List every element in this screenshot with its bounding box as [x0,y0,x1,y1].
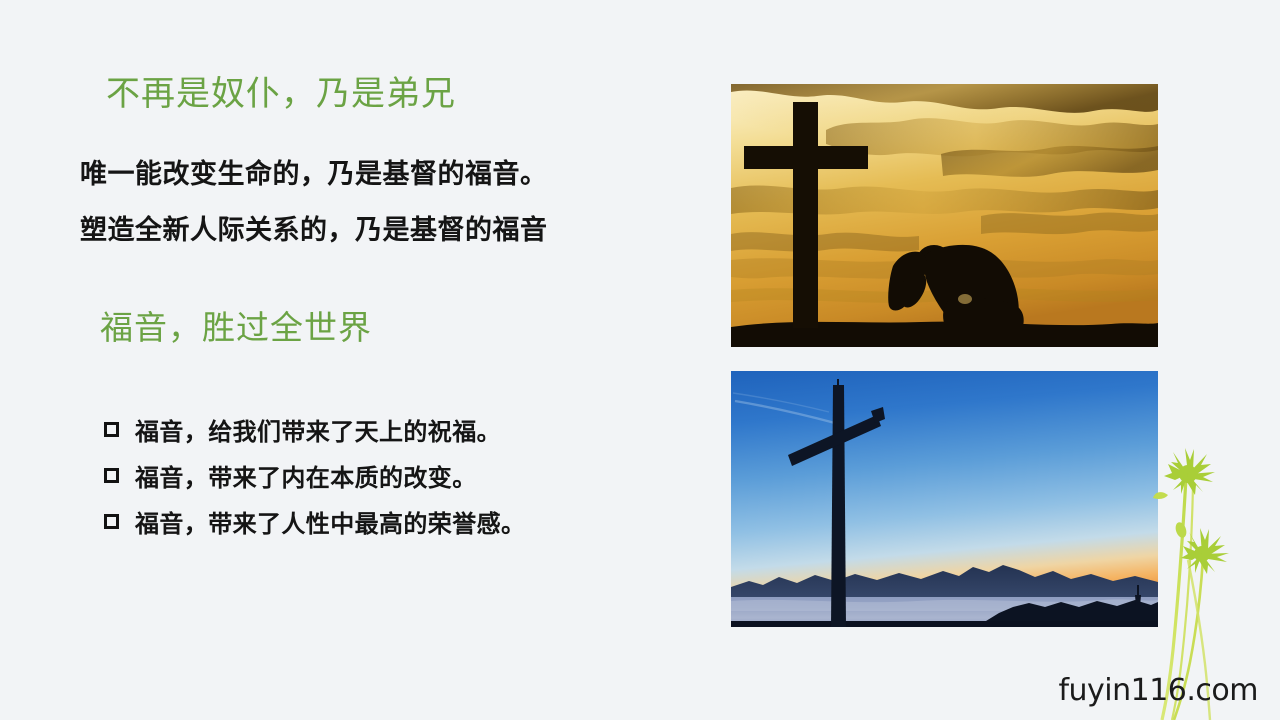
bullet-list: 福音，给我们带来了天上的祝福。 福音，带来了内在本质的改变。 福音，带来了人性中… [104,406,525,544]
body-line-2: 塑造全新人际关系的，乃是基督的福音 [80,214,548,248]
page-title: 不再是奴仆，乃是弟兄 [106,74,456,114]
image-summit-cross-dusk [731,371,1158,627]
flower-bud [1174,521,1188,539]
flower-head-lower [1181,528,1229,574]
list-item: 福音，给我们带来了天上的祝福。 [104,406,525,452]
section-heading: 福音，胜过全世界 [100,308,372,348]
cross-sunset-prayer-illustration [731,84,1158,347]
image-cross-sunset-prayer [731,84,1158,347]
watermark-site-url: fuyin116.com [1058,673,1258,708]
text-column: 不再是奴仆，乃是弟兄 唯一能改变生命的，乃是基督的福音。 塑造全新人际关系的，乃… [0,0,700,720]
hollow-square-bullet-icon [104,422,119,437]
summit-cross-dusk-illustration [731,371,1158,627]
hollow-square-bullet-icon [104,514,119,529]
list-item-label: 福音，带来了内在本质的改变。 [135,458,477,493]
flower-head-upper [1164,448,1215,495]
list-item: 福音，带来了人性中最高的荣誉感。 [104,498,525,544]
list-item-label: 福音，给我们带来了天上的祝福。 [135,412,501,447]
hollow-square-bullet-icon [104,468,119,483]
slide-canvas: 不再是奴仆，乃是弟兄 唯一能改变生命的，乃是基督的福音。 塑造全新人际关系的，乃… [0,0,1280,720]
body-line-1: 唯一能改变生命的，乃是基督的福音。 [80,158,548,192]
list-item: 福音，带来了内在本质的改变。 [104,452,525,498]
list-item-label: 福音，带来了人性中最高的荣誉感。 [135,504,525,539]
